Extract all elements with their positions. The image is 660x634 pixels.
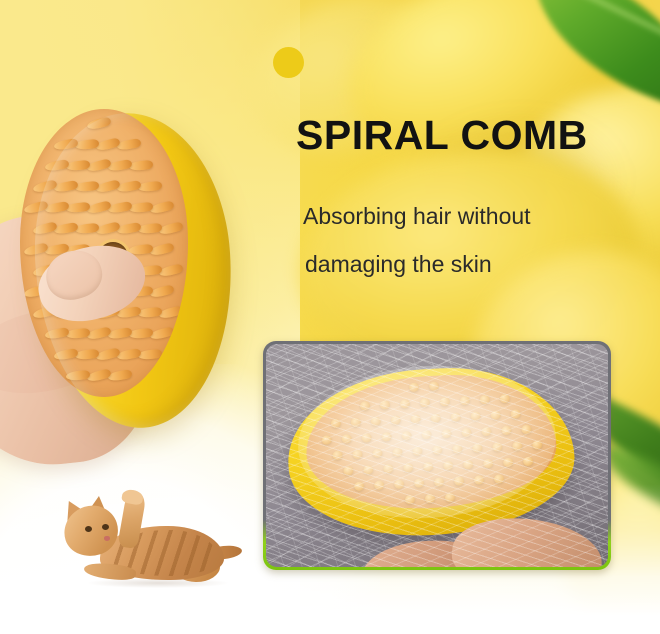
brush-bristle	[86, 368, 111, 383]
brush-bristle	[95, 179, 120, 194]
inset-photo	[266, 344, 608, 567]
kitten-nose	[104, 536, 110, 541]
yellow-accent-dot	[273, 47, 304, 78]
brush-bristle	[138, 181, 163, 192]
brush-bristle	[95, 347, 120, 362]
brush-bristle	[107, 369, 132, 382]
brush-bristle	[138, 307, 163, 318]
brush-bristle	[75, 139, 100, 150]
brush-bristle	[44, 159, 69, 172]
brush-bristle	[116, 348, 141, 361]
brush-bristle	[149, 200, 174, 215]
brush-bristle	[107, 201, 132, 214]
brush-bristle	[66, 202, 91, 213]
brush-bristle	[75, 223, 100, 234]
subtitle-line-2: damaging the skin	[305, 252, 492, 277]
brush-bristle	[86, 116, 111, 131]
brush-bristle	[86, 200, 111, 215]
brush-bristle	[44, 201, 69, 214]
brush-bristle	[116, 222, 141, 235]
brush-bristle	[129, 328, 154, 339]
brush-bristle	[75, 181, 100, 192]
kitten-eye-left	[85, 526, 92, 532]
brush-bristle	[107, 159, 132, 172]
brush-bristle	[86, 326, 111, 341]
brush-bristle	[138, 223, 163, 234]
page-title: SPIRAL COMB	[296, 113, 588, 158]
kitten-illustration	[48, 492, 238, 592]
brush-bristle	[149, 242, 174, 257]
brush-bristle	[23, 242, 48, 257]
brush-bristle	[53, 348, 78, 361]
brush-bristle	[158, 263, 183, 278]
brush-bristle	[75, 349, 100, 360]
brush-bristle	[129, 202, 154, 213]
brush-bristle	[23, 200, 48, 215]
brush-bristle	[53, 222, 78, 235]
brush-bristle	[32, 221, 57, 236]
brush-bristle	[107, 327, 132, 340]
kitten-eye-right	[102, 524, 109, 530]
brush-bristle	[116, 180, 141, 193]
brush-bristle	[44, 327, 69, 340]
brush-bristle	[53, 138, 78, 151]
subtitle-line-1: Absorbing hair without	[303, 204, 531, 229]
brush-bristle	[95, 221, 120, 236]
brush-bristle	[32, 179, 57, 194]
product-banner: SPIRAL COMB Absorbing hair without damag…	[0, 0, 660, 634]
brush-bristle	[138, 349, 163, 360]
hero-product-photo	[0, 95, 270, 465]
brush-bristle	[129, 160, 154, 171]
brush-bristle	[53, 180, 78, 193]
brush-bristle	[86, 158, 111, 173]
brush-bristle	[95, 137, 120, 152]
brush-bristle	[116, 138, 141, 151]
inset-photo-frame	[263, 341, 611, 570]
brush-bristle	[158, 221, 183, 236]
brush-bristle	[149, 284, 174, 299]
brush-bristle	[66, 370, 91, 381]
brush-bristle	[66, 160, 91, 171]
brush-bristle	[66, 328, 91, 339]
